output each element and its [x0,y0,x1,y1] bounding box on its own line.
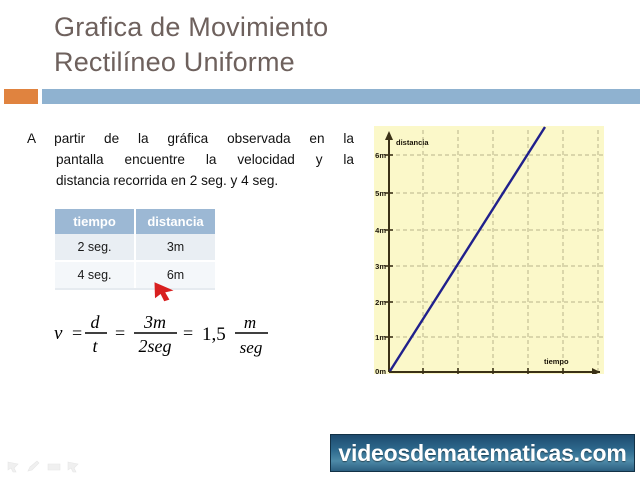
formula-eq-1: = [72,323,82,343]
table-header-tiempo: tiempo [55,209,135,234]
formula-num-d: d [91,312,101,332]
formula-den-t: t [92,336,98,356]
ytick-2m: 2m [375,298,386,307]
ytick-0m: 0m [375,367,386,374]
accent-bar-blue [42,89,640,104]
table-row: 4 seg. 6m [55,261,215,289]
pointer-icon [68,462,78,472]
table-row: 2 seg. 3m [55,234,215,261]
ytick-4m: 4m [375,226,386,235]
formula-num-3m: 3m [143,312,166,332]
body-paragraph: A partir de la gráfica observada en la p… [27,128,354,191]
pen-icon [28,461,39,471]
ytick-3m: 3m [375,262,386,271]
motion-chart: 6m 5m 4m 3m 2m 1m 0m 0seg 1seg 2seg 3seg… [374,126,604,374]
body-line-2: pantalla encuentre la velocidad y la [27,149,354,170]
table-header-row: tiempo distancia [55,209,215,234]
chart-y-axis-label: distancia [396,138,429,147]
title-accent-bar [0,89,640,104]
slide-canvas: Grafica de Movimiento Rectilíneo Uniform… [0,0,640,480]
cell-distancia-1: 3m [135,234,215,261]
formula-den-2seg: 2seg [139,336,172,356]
footer-banner-text: videosdematematicas.com [338,440,626,467]
eraser-icon [48,464,60,470]
data-table: tiempo distancia 2 seg. 3m 4 seg. 6m [55,209,215,290]
formula-num-m: m [244,313,256,332]
formula-den-seg: seg [240,338,263,357]
ytick-5m: 5m [375,189,386,198]
cursor-icon [8,462,18,472]
page-title: Grafica de Movimiento Rectilíneo Uniform… [54,10,574,80]
red-arrow-icon [152,280,178,302]
chart-svg: 6m 5m 4m 3m 2m 1m 0m 0seg 1seg 2seg 3seg… [374,126,604,374]
footer-banner[interactable]: videosdematematicas.com [330,434,635,472]
accent-square-orange [4,89,38,104]
chart-x-axis-label: tiempo [544,357,569,366]
cell-tiempo-1: 2 seg. [55,234,135,261]
formula-eq-2: = [115,323,125,343]
title-line-2: Rectilíneo Uniforme [54,45,574,80]
ytick-6m: 6m [375,151,386,160]
velocity-formula: v = d t = 3m 2seg = 1,5 m seg [52,306,302,360]
formula-eq-3: = [183,323,193,343]
formula-result: 1,5 [202,324,226,345]
watermark-toolbar [6,459,86,475]
body-line-1: A partir de la gráfica observada en la [27,128,354,149]
body-line-3: distancia recorrida en 2 seg. y 4 seg. [27,170,354,191]
cell-tiempo-2: 4 seg. [55,261,135,289]
table-header-distancia: distancia [135,209,215,234]
formula-graphic: v = d t = 3m 2seg = 1,5 m seg [52,306,302,360]
title-line-1: Grafica de Movimiento [54,10,574,45]
formula-v: v [54,323,63,344]
ytick-1m: 1m [375,333,386,342]
